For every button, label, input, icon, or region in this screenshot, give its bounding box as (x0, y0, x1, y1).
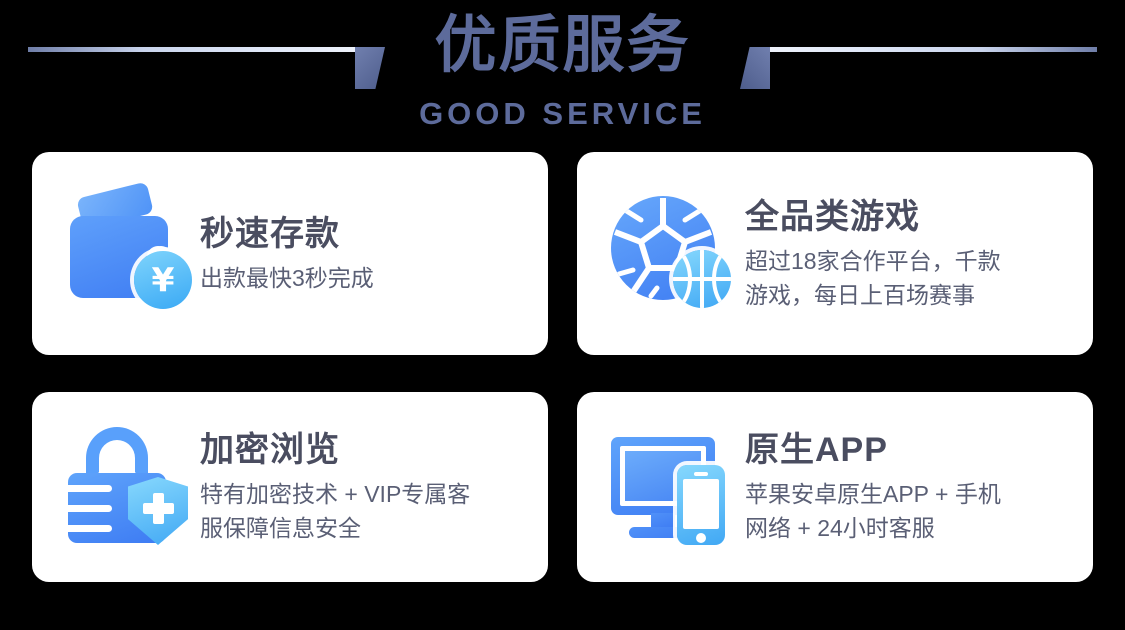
phone-screen (683, 479, 719, 529)
feature-card-native-app[interactable]: 原生APP 苹果安卓原生APP + 手机 网络 + 24小时客服 (577, 392, 1093, 582)
lock-slot (68, 485, 112, 492)
page-header: 优质服务 GOOD SERVICE (0, 0, 1125, 150)
page-title: 优质服务 (0, 6, 1125, 86)
feature-card-games[interactable]: 全品类游戏 超过18家合作平台，千款 游戏，每日上百场赛事 (577, 152, 1093, 355)
lock-shield-icon (62, 421, 194, 553)
lock-slot (68, 525, 112, 532)
card-subtitle: 出款最快3秒完成 (200, 261, 374, 295)
card-text-block: 加密浏览 特有加密技术 + VIP专属客 服保障信息安全 (200, 429, 470, 545)
card-title: 全品类游戏 (745, 196, 1001, 238)
wallet-yen-icon: ¥ (62, 188, 194, 320)
card-subtitle: 苹果安卓原生APP + 手机 网络 + 24小时客服 (745, 477, 1001, 545)
cross-horizontal-bar (143, 503, 174, 514)
card-subtitle-line: 苹果安卓原生APP + 手机 (745, 477, 1001, 511)
card-title: 秒速存款 (200, 213, 374, 255)
card-subtitle-line: 超过18家合作平台，千款 (745, 244, 1001, 278)
card-subtitle-line: 特有加密技术 + VIP专属客 (200, 477, 470, 511)
card-text-block: 原生APP 苹果安卓原生APP + 手机 网络 + 24小时客服 (745, 429, 1001, 545)
card-subtitle-line: 出款最快3秒完成 (200, 261, 374, 295)
card-subtitle-line: 游戏，每日上百场赛事 (745, 278, 1001, 312)
card-subtitle-line: 网络 + 24小时客服 (745, 511, 1001, 545)
soccer-basketball-icon (607, 188, 739, 320)
card-text-block: 全品类游戏 超过18家合作平台，千款 游戏，每日上百场赛事 (745, 196, 1001, 312)
card-text-block: 秒速存款 出款最快3秒完成 (200, 213, 374, 295)
lock-slot (68, 505, 112, 512)
feature-card-deposit[interactable]: ¥ 秒速存款 出款最快3秒完成 (32, 152, 548, 355)
phone-icon (677, 465, 725, 545)
monitor-phone-icon (607, 421, 739, 553)
feature-card-grid: ¥ 秒速存款 出款最快3秒完成 (32, 152, 1093, 582)
card-subtitle-line: 服保障信息安全 (200, 511, 470, 545)
card-title: 原生APP (745, 429, 1001, 471)
card-title: 加密浏览 (200, 429, 470, 471)
phone-speaker (694, 472, 708, 476)
phone-home-button (696, 533, 706, 543)
card-subtitle: 超过18家合作平台，千款 游戏，每日上百场赛事 (745, 244, 1001, 312)
feature-card-encryption[interactable]: 加密浏览 特有加密技术 + VIP专属客 服保障信息安全 (32, 392, 548, 582)
card-subtitle: 特有加密技术 + VIP专属客 服保障信息安全 (200, 477, 470, 545)
yen-symbol: ¥ (152, 263, 175, 296)
yen-coin-icon: ¥ (134, 251, 192, 309)
page-subtitle: GOOD SERVICE (0, 96, 1125, 132)
basketball-icon (673, 250, 731, 308)
